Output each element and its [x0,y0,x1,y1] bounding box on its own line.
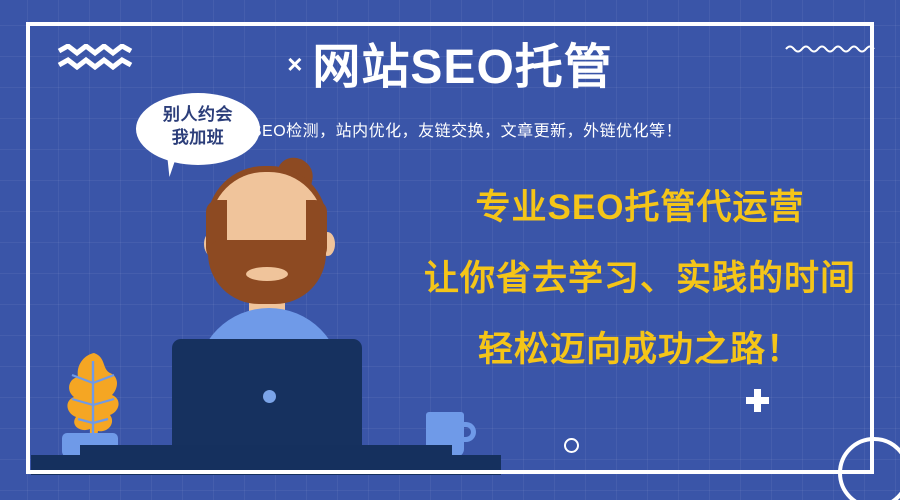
speech-bubble: 别人约会 我加班 [136,93,260,165]
header-subtitle: 含：SEO检测，站内优化，友链交换，文章更新，外链优化等！ [0,117,900,141]
mouth [246,267,288,281]
plus-icon [746,389,769,412]
desk [31,455,501,475]
slogan-line-3: 轻松迈向成功之路！ [400,332,880,367]
slogan-line-2: 让你省去学习、实践的时间 [400,261,880,296]
laptop-logo-dot [263,390,276,403]
title-bullet-mark: × [287,49,302,80]
slogan-block: 专业SEO托管代运营 让你省去学习、实践的时间 轻松迈向成功之路！ [400,190,880,367]
page-title: 网站SEO托管 [312,44,612,92]
header-title-row: ×网站SEO托管 [0,44,900,92]
slogan-line-1: 专业SEO托管代运营 [400,190,880,225]
speech-bubble-text: 别人约会 我加班 [136,104,260,150]
seo-hosting-banner: ×网站SEO托管 含：SEO检测，站内优化，友链交换，文章更新，外链优化等！ 别… [0,0,900,500]
small-circle-icon [564,438,579,453]
